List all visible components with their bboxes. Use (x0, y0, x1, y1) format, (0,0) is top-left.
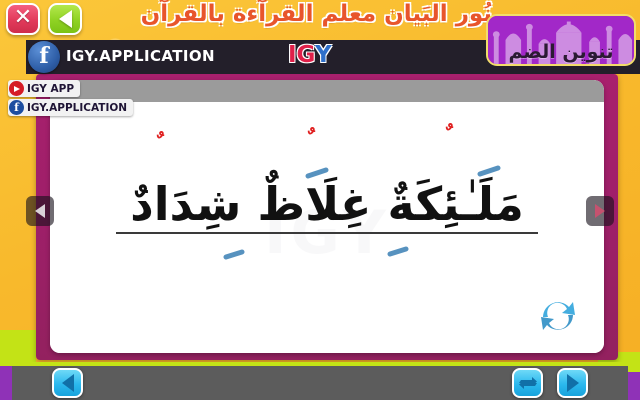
facebook-icon[interactable]: f (28, 41, 60, 73)
app-root: ✕ نُور البَيان معلم القرآءة بالقرآن (0, 0, 640, 400)
lesson-category-badge: تنوين الضم (486, 14, 636, 66)
repeat-button[interactable] (512, 368, 543, 398)
next-triangle-icon (567, 374, 579, 392)
tanween-marks: ٌ ٌ ٌ (156, 123, 454, 139)
facebook-icon (9, 100, 24, 115)
chip-facebook[interactable]: IGY.APPLICATION (8, 99, 133, 116)
lesson-text-graphic: مَلَـٰئِكَةٌ غِلَاظٌ شِدَادٌ ٌ ٌ ٌ (50, 102, 604, 272)
card-header-strip (50, 80, 604, 102)
bottom-toolbar (12, 366, 628, 400)
facebook-page-name: IGY.APPLICATION (66, 47, 215, 65)
back-button[interactable] (48, 3, 82, 35)
next-page-overlay-button[interactable] (586, 196, 614, 226)
igy-logo-part2: Y (315, 42, 332, 68)
chip-facebook-label: IGY.APPLICATION (27, 102, 127, 114)
previous-button[interactable] (52, 368, 83, 398)
back-triangle-icon (59, 10, 72, 28)
igy-logo: IGY (288, 44, 332, 67)
svg-text:ٌ: ٌ (445, 123, 454, 131)
youtube-icon (9, 81, 24, 96)
replay-button[interactable] (534, 293, 582, 337)
repeat-loop-icon (518, 374, 538, 392)
prev-page-overlay-button[interactable] (26, 196, 54, 226)
svg-text:ٌ: ٌ (156, 131, 165, 139)
chevron-left-icon (35, 204, 45, 218)
igy-logo-part1: IG (288, 42, 315, 68)
previous-triangle-icon (62, 374, 74, 392)
close-icon: ✕ (14, 7, 32, 29)
lesson-arabic-text: مَلَـٰئِكَةٌ غِلَاظٌ شِدَادٌ (130, 169, 524, 231)
lesson-card: IGY مَلَـٰئِكَةٌ غِلَاظٌ شِدَادٌ ٌ ٌ ٌ (50, 80, 604, 353)
card-body: IGY مَلَـٰئِكَةٌ غِلَاظٌ شِدَادٌ ٌ ٌ ٌ (50, 102, 604, 353)
close-button[interactable]: ✕ (6, 3, 40, 35)
page-title: نُور البَيان معلم القرآءة بالقرآن (141, 1, 492, 27)
chip-youtube-label: IGY APP (27, 83, 74, 95)
chip-youtube[interactable]: IGY APP (8, 80, 80, 97)
svg-text:ٌ: ٌ (307, 127, 316, 135)
circular-replay-icon (541, 302, 575, 330)
next-button[interactable] (557, 368, 588, 398)
lesson-category-label: تنوين الضم (488, 41, 634, 63)
chevron-right-icon (595, 204, 605, 218)
